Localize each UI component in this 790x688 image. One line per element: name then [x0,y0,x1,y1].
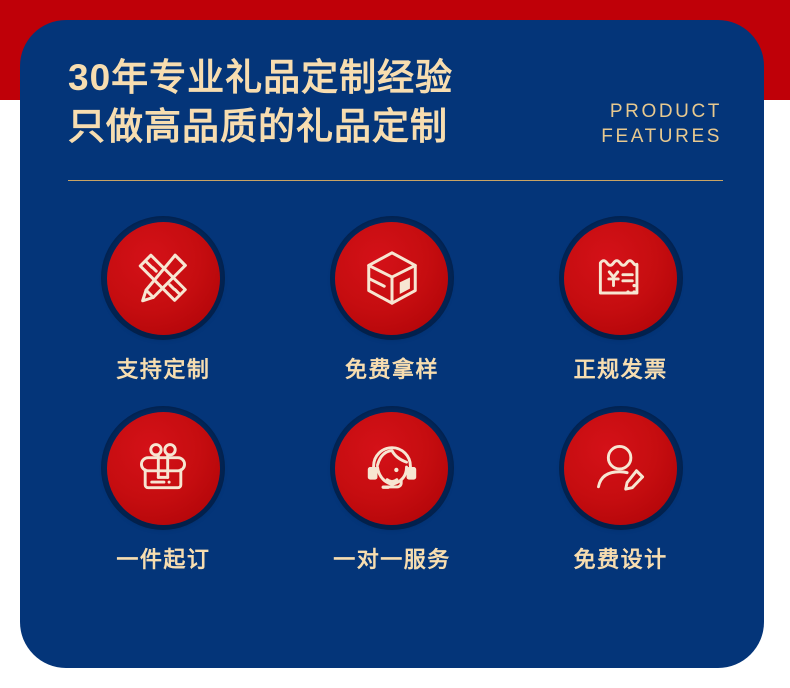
icon-badge [330,216,454,340]
feature-label: 正规发票 [574,357,668,383]
headset-agent-icon [361,437,423,499]
person-pencil-icon [591,438,651,498]
blue-card: 30年专业礼品定制经验 只做高品质的礼品定制 PRODUCT FEATURES [20,20,764,668]
badge-circle [564,412,677,525]
cube-box-icon [361,247,423,309]
feature-label: 支持定制 [116,357,210,383]
feature-item-design[interactable]: 免费设计 [506,406,735,573]
invoice-yuan-icon [591,248,651,308]
icon-badge [101,216,225,340]
icon-badge [330,406,454,530]
feature-item-sample[interactable]: 免费拿样 [278,216,507,383]
feature-item-min-order[interactable]: 一件起订 [49,406,278,573]
header-divider [68,180,723,181]
feature-item-custom[interactable]: 支持定制 [49,216,278,383]
title-line-2: 只做高品质的礼品定制 [68,102,453,151]
gift-box-icon [133,438,193,498]
badge-circle [564,222,677,335]
feature-label: 一件起订 [116,547,210,573]
icon-badge [559,406,683,530]
badge-circle [335,412,448,525]
feature-grid: 支持定制 [49,216,735,573]
eyebrow-line-1: PRODUCT [601,99,722,124]
pencil-ruler-icon [132,247,194,309]
feature-item-service[interactable]: 一对一服务 [278,406,507,573]
feature-item-invoice[interactable]: 正规发票 [506,216,735,383]
promo-banner: 30年专业礼品定制经验 只做高品质的礼品定制 PRODUCT FEATURES [0,0,790,688]
badge-circle [335,222,448,335]
feature-label: 免费拿样 [345,357,439,383]
badge-circle [107,412,220,525]
feature-label: 免费设计 [574,547,668,573]
page-title: 30年专业礼品定制经验 只做高品质的礼品定制 [68,53,453,151]
eyebrow-line-2: FEATURES [601,124,722,149]
eyebrow-label: PRODUCT FEATURES [601,99,722,149]
title-line-1: 30年专业礼品定制经验 [68,53,453,102]
icon-badge [559,216,683,340]
feature-label: 一对一服务 [333,547,451,573]
header: 30年专业礼品定制经验 只做高品质的礼品定制 PRODUCT FEATURES [68,53,722,173]
icon-badge [101,406,225,530]
badge-circle [107,222,220,335]
